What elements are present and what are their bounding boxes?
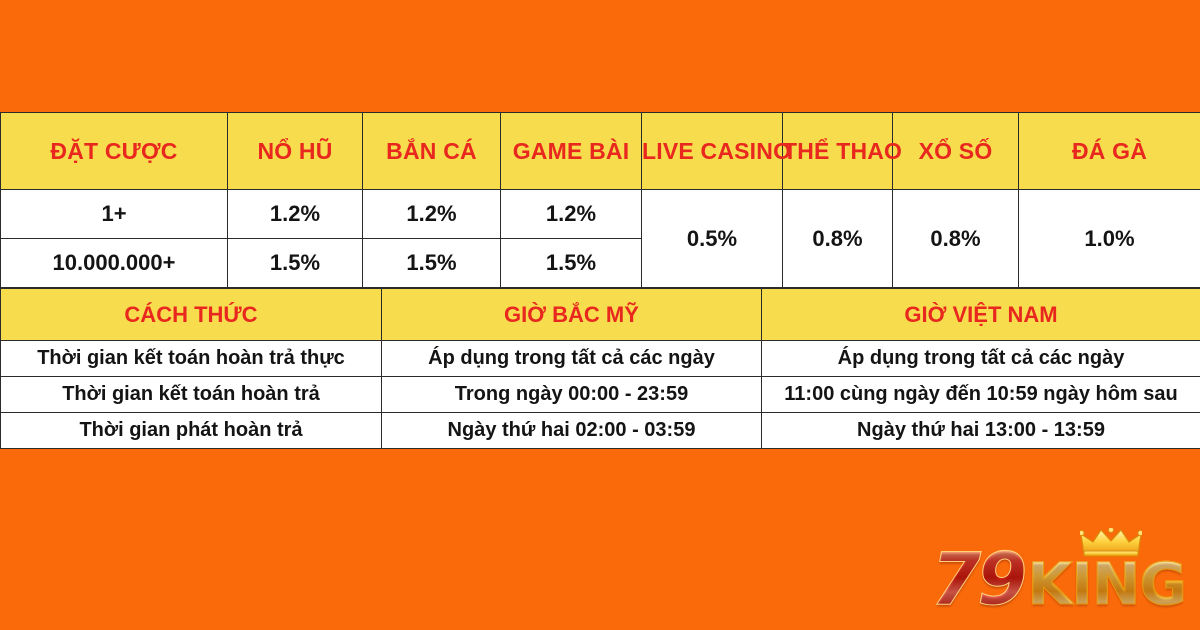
schedule-cell-vietnam-1: Áp dụng trong tất cả các ngày (762, 341, 1200, 377)
rates-header-bet-level: ĐẶT CƯỢC (1, 113, 228, 190)
rates-header-game-bai: GAME BÀI (501, 113, 642, 190)
schedule-cell-vietnam-3: Ngày thứ hai 13:00 - 13:59 (762, 413, 1200, 449)
schedule-header-method: CÁCH THỨC (1, 289, 382, 341)
rebate-rates-table: ĐẶT CƯỢC NỔ HŨ BẮN CÁ GAME BÀI LIVE CASI… (0, 112, 1200, 288)
rates-cell-game-bai-1: 1.2% (501, 190, 642, 239)
table-row: Thời gian kết toán hoàn trả thực Áp dụng… (1, 341, 1200, 377)
rates-header-no-hu: NỔ HŨ (228, 113, 363, 190)
rates-cell-the-thao: 0.8% (783, 190, 893, 288)
rates-cell-bet-level-2: 10.000.000+ (1, 239, 228, 288)
rates-header-live-casino: LIVE CASINO (642, 113, 783, 190)
rates-header-da-ga: ĐÁ GÀ (1019, 113, 1200, 190)
rates-cell-xo-so: 0.8% (893, 190, 1019, 288)
schedule-cell-method-3: Thời gian phát hoàn trả (1, 413, 382, 449)
rates-cell-ban-ca-1: 1.2% (363, 190, 501, 239)
rates-header-row: ĐẶT CƯỢC NỔ HŨ BẮN CÁ GAME BÀI LIVE CASI… (1, 113, 1200, 190)
rates-header-ban-ca: BẮN CÁ (363, 113, 501, 190)
rates-cell-no-hu-1: 1.2% (228, 190, 363, 239)
rates-cell-no-hu-2: 1.5% (228, 239, 363, 288)
schedule-header-row: CÁCH THỨC GIỜ BẮC MỸ GIỜ VIỆT NAM (1, 289, 1200, 341)
logo-brand-king: KING (1027, 557, 1186, 612)
logo-number-79: 79 (931, 546, 1023, 612)
rates-table-body: 1+ 1.2% 1.2% 1.2% 0.5% 0.8% 0.8% 1.0% 10… (1, 190, 1200, 288)
schedule-table-head: CÁCH THỨC GIỜ BẮC MỸ GIỜ VIỆT NAM (1, 289, 1200, 341)
table-row: Thời gian phát hoàn trả Ngày thứ hai 02:… (1, 413, 1200, 449)
schedule-cell-north-america-2: Trong ngày 00:00 - 23:59 (382, 377, 762, 413)
schedule-cell-north-america-1: Áp dụng trong tất cả các ngày (382, 341, 762, 377)
rates-cell-live-casino: 0.5% (642, 190, 783, 288)
schedule-cell-method-2: Thời gian kết toán hoàn trả (1, 377, 382, 413)
rates-cell-ban-ca-2: 1.5% (363, 239, 501, 288)
schedule-header-north-america: GIỜ BẮC MỸ (382, 289, 762, 341)
poster-canvas: ĐẶT CƯỢC NỔ HŨ BẮN CÁ GAME BÀI LIVE CASI… (0, 0, 1200, 630)
schedule-cell-north-america-3: Ngày thứ hai 02:00 - 03:59 (382, 413, 762, 449)
brand-logo: 79 KING (931, 526, 1186, 612)
schedule-cell-method-1: Thời gian kết toán hoàn trả thực (1, 341, 382, 377)
rates-header-xo-so: XỔ SỐ (893, 113, 1019, 190)
rates-header-the-thao: THỂ THAO (783, 113, 893, 190)
schedule-header-vietnam: GIỜ VIỆT NAM (762, 289, 1200, 341)
table-row: Thời gian kết toán hoàn trả Trong ngày 0… (1, 377, 1200, 413)
schedule-table: CÁCH THỨC GIỜ BẮC MỸ GIỜ VIỆT NAM Thời g… (0, 288, 1200, 449)
schedule-table-body: Thời gian kết toán hoàn trả thực Áp dụng… (1, 341, 1200, 449)
rates-cell-da-ga: 1.0% (1019, 190, 1200, 288)
schedule-cell-vietnam-2: 11:00 cùng ngày đến 10:59 ngày hôm sau (762, 377, 1200, 413)
rates-cell-bet-level-1: 1+ (1, 190, 228, 239)
rates-cell-game-bai-2: 1.5% (501, 239, 642, 288)
logo-king-wrapper: KING (1027, 528, 1186, 612)
table-row: 1+ 1.2% 1.2% 1.2% 0.5% 0.8% 0.8% 1.0% (1, 190, 1200, 239)
rates-table-head: ĐẶT CƯỢC NỔ HŨ BẮN CÁ GAME BÀI LIVE CASI… (1, 113, 1200, 190)
